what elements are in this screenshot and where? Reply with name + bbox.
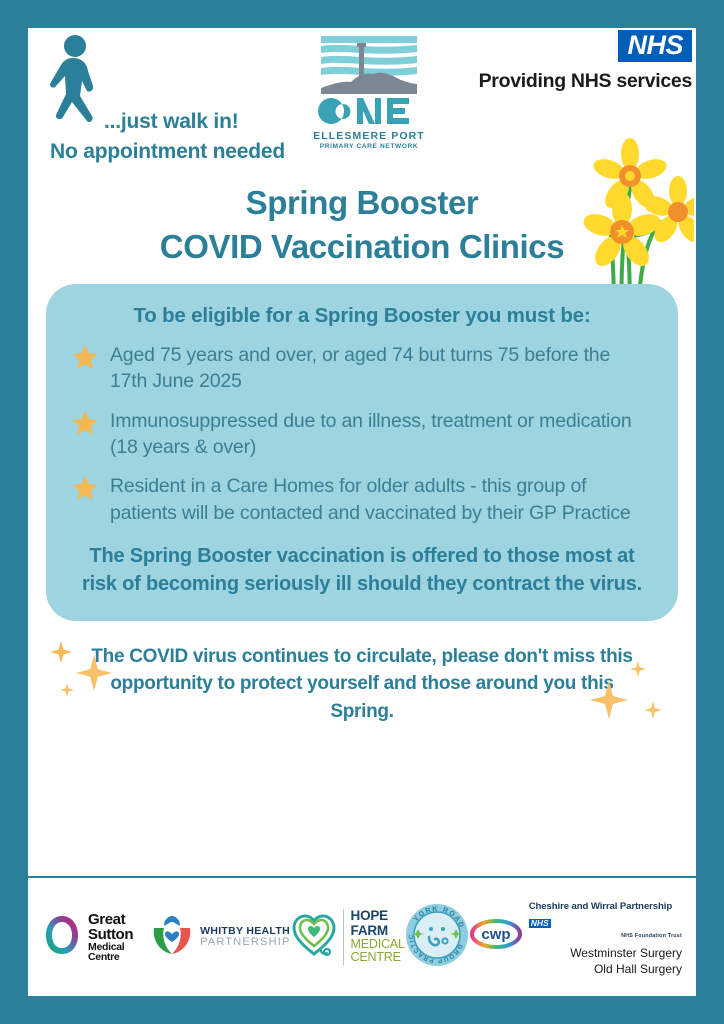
cwp-line1: Cheshire and Wirral Partnership: [529, 901, 672, 912]
ellesmere-port-skyline-icon: [313, 111, 425, 128]
cwp-nhs-badge: NHS: [529, 919, 551, 929]
main-panel: ...just walk in! No appointment needed: [28, 28, 696, 876]
hope-farm-line2: FARM: [351, 924, 405, 938]
one-ellesmere-port-logo: ELLESMERE PORT PRIMARY CARE NETWORK: [308, 32, 430, 150]
footer-logos-panel: Great Sutton Medical Centre WHITBY HEALT…: [28, 878, 696, 996]
hope-farm-text: HOPE FARM MEDICAL CENTRE: [343, 909, 405, 964]
eligibility-heading: To be eligible for a Spring Booster you …: [72, 304, 652, 328]
one-logo-name: ELLESMERE PORT: [308, 130, 430, 142]
cwp-text: Cheshire and Wirral Partnership NHS NHS …: [529, 896, 682, 977]
great-sutton-line3: Medical Centre: [88, 942, 150, 963]
nhs-logo-icon: NHS: [618, 30, 692, 62]
nhs-tagline: Providing NHS services: [479, 70, 692, 93]
poster-titles: Spring Booster COVID Vaccination Clinics: [28, 184, 696, 266]
star-icon: [72, 410, 98, 436]
title-line-1: Spring Booster: [28, 184, 696, 222]
poster-root: ...just walk in! No appointment needed: [0, 0, 724, 1024]
sparkle-icon: [630, 661, 646, 682]
no-appointment-text: No appointment needed: [50, 140, 285, 164]
sparkle-icon: [590, 681, 628, 724]
logo-whitby-health-partnership: WHITBY HEALTH PARTNERSHIP: [150, 914, 290, 961]
colour-ring-icon: [42, 913, 82, 962]
cwp-wordmark: cwp: [481, 926, 510, 943]
cwp-surgery-2: Old Hall Surgery: [529, 961, 682, 977]
cwp-line2: NHS Foundation Trust: [529, 933, 682, 939]
hope-farm-line1: HOPE: [351, 909, 405, 923]
cta-block: The COVID virus continues to circulate, …: [52, 639, 672, 739]
poster-header: ...just walk in! No appointment needed: [28, 28, 696, 170]
sparkle-icon: [60, 683, 74, 702]
sparkle-icon: [644, 701, 662, 724]
sparkle-icon: [50, 641, 72, 668]
logo-great-sutton-medical-centre: Great Sutton Medical Centre: [42, 912, 150, 963]
eligibility-item-text: Immunosuppressed due to an illness, trea…: [110, 408, 652, 461]
star-icon: [72, 475, 98, 501]
walk-in-text: ...just walk in!: [104, 110, 239, 134]
people-heart-icon: [150, 914, 194, 961]
eligibility-card: To be eligible for a Spring Booster you …: [46, 284, 678, 621]
hope-farm-line4: CENTRE: [351, 951, 405, 964]
eligibility-item-text: Resident in a Care Homes for older adult…: [110, 473, 652, 526]
walking-person-icon: [40, 34, 112, 135]
york-road-badge-icon: YORK ROAD GROUP PRACTICE: [405, 903, 469, 972]
eligibility-item-text: Aged 75 years and over, or aged 74 but t…: [110, 342, 652, 395]
logo-cheshire-wirral-partnership: cwp Cheshire and Wirral Partnership NHS …: [469, 896, 682, 977]
title-line-2: COVID Vaccination Clinics: [28, 228, 696, 266]
sparkle-icon: [76, 655, 112, 696]
one-logo-subtitle: PRIMARY CARE NETWORK: [308, 143, 430, 150]
heart-stethoscope-icon: [291, 912, 337, 963]
list-item: Aged 75 years and over, or aged 74 but t…: [72, 342, 652, 395]
logo-hope-farm-medical-centre: HOPE FARM MEDICAL CENTRE: [291, 909, 405, 964]
eligibility-note: The Spring Booster vaccination is offere…: [72, 542, 652, 599]
whitby-line2: PARTNERSHIP: [200, 937, 290, 949]
whitby-text: WHITBY HEALTH PARTNERSHIP: [200, 926, 290, 949]
logo-york-road-group-practice: YORK ROAD GROUP PRACTICE: [405, 903, 469, 972]
great-sutton-line1: Great: [88, 912, 150, 927]
great-sutton-text: Great Sutton Medical Centre: [88, 912, 150, 963]
star-icon: [72, 344, 98, 370]
hope-farm-line3: MEDICAL: [351, 938, 405, 951]
list-item: Resident in a Care Homes for older adult…: [72, 473, 652, 526]
cta-text: The COVID virus continues to circulate, …: [52, 639, 672, 726]
cwp-surgery-1: Westminster Surgery: [529, 945, 682, 961]
cwp-swirl-icon: cwp: [469, 914, 523, 959]
great-sutton-line2: Sutton: [88, 927, 150, 942]
nhs-branding: NHS Providing NHS services: [479, 30, 692, 93]
list-item: Immunosuppressed due to an illness, trea…: [72, 408, 652, 461]
